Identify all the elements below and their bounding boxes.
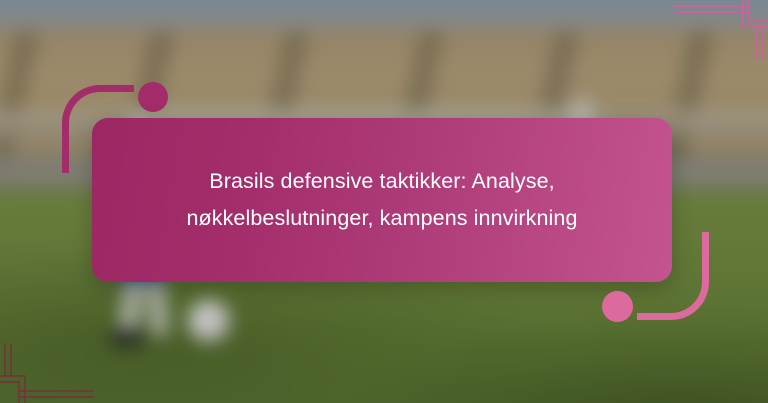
frame-line-vertical-inner [4,343,6,377]
title-card: Brasils defensive taktikker: Analyse, nø… [92,118,672,282]
frame-corner-inner [748,0,768,22]
frame-corner-inner [0,381,20,403]
frame-line-vertical-inner [762,26,764,60]
corner-frame-bottom-left-icon [0,341,96,403]
corner-frame-top-right-icon [672,0,768,62]
article-hero-banner: Brasils defensive taktikker: Analyse, nø… [0,0,768,403]
frame-line-horizontal-inner [674,11,748,13]
accent-dot-bottom-right-icon [602,291,633,322]
frame-line-horizontal-outer [674,5,748,7]
frame-line-vertical-outer [756,26,758,60]
accent-dot-top-left-icon [138,82,168,112]
frame-line-horizontal-inner [20,390,94,392]
accent-bracket-bottom-right-icon [637,232,709,320]
frame-line-vertical-outer [10,343,12,377]
page-title: Brasils defensive taktikker: Analyse, nø… [143,163,621,238]
frame-line-horizontal-outer [20,396,94,398]
